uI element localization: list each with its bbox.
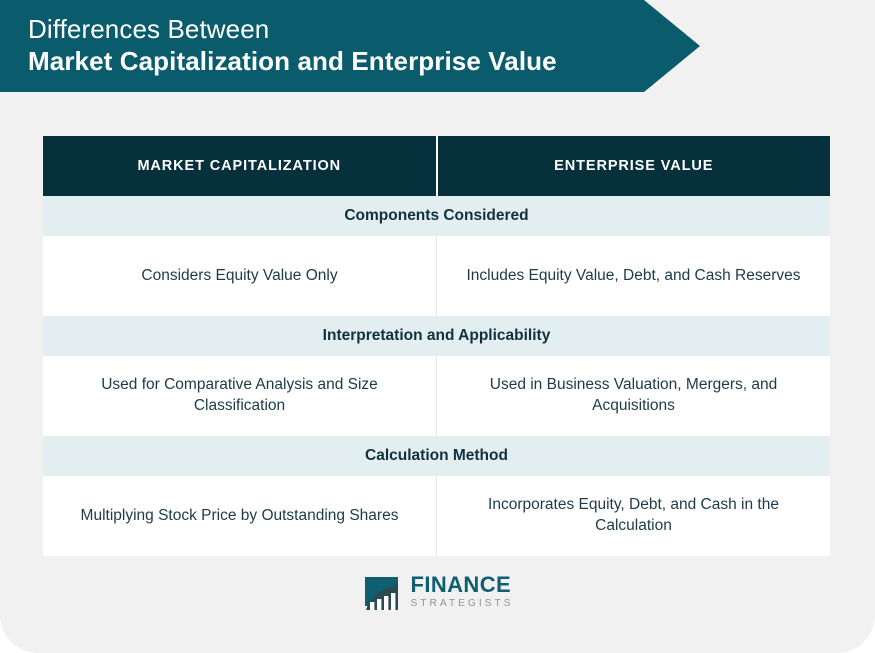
section-label: Interpretation and Applicability [323,327,551,345]
column-header-enterprise-value: ENTERPRISE VALUE [438,136,831,196]
table-row: Considers Equity Value Only Includes Equ… [43,236,830,316]
table-row: Multiplying Stock Price by Outstanding S… [43,476,830,556]
section-label: Components Considered [344,207,528,225]
table-row: Used for Comparative Analysis and Size C… [43,356,830,436]
cell-market-capitalization: Multiplying Stock Price by Outstanding S… [43,476,437,556]
cell-market-capitalization: Considers Equity Value Only [43,236,437,316]
cell-enterprise-value: Incorporates Equity, Debt, and Cash in t… [437,476,830,556]
infographic-canvas: Differences Between Market Capitalizatio… [0,0,875,653]
column-header-market-capitalization: MARKET CAPITALIZATION [43,136,438,196]
brand-logo: FINANCE STRATEGISTS [0,572,875,612]
section-header-row: Calculation Method [43,436,830,476]
cell-enterprise-value: Used in Business Valuation, Mergers, and… [437,356,830,436]
logo-primary-text: FINANCE [411,574,514,596]
table-header-row: MARKET CAPITALIZATION ENTERPRISE VALUE [43,136,830,196]
section-header-row: Interpretation and Applicability [43,316,830,356]
logo-secondary-text: STRATEGISTS [411,599,514,609]
finance-strategists-logo-icon [362,572,402,612]
title-banner: Differences Between Market Capitalizatio… [0,0,700,92]
title-line-1: Differences Between [28,14,700,46]
comparison-table: MARKET CAPITALIZATION ENTERPRISE VALUE C… [43,136,830,556]
section-label: Calculation Method [365,447,508,465]
logo-wordmark: FINANCE STRATEGISTS [411,574,514,609]
cell-enterprise-value: Includes Equity Value, Debt, and Cash Re… [437,236,830,316]
cell-market-capitalization: Used for Comparative Analysis and Size C… [43,356,437,436]
title-line-2: Market Capitalization and Enterprise Val… [28,46,700,78]
section-header-row: Components Considered [43,196,830,236]
